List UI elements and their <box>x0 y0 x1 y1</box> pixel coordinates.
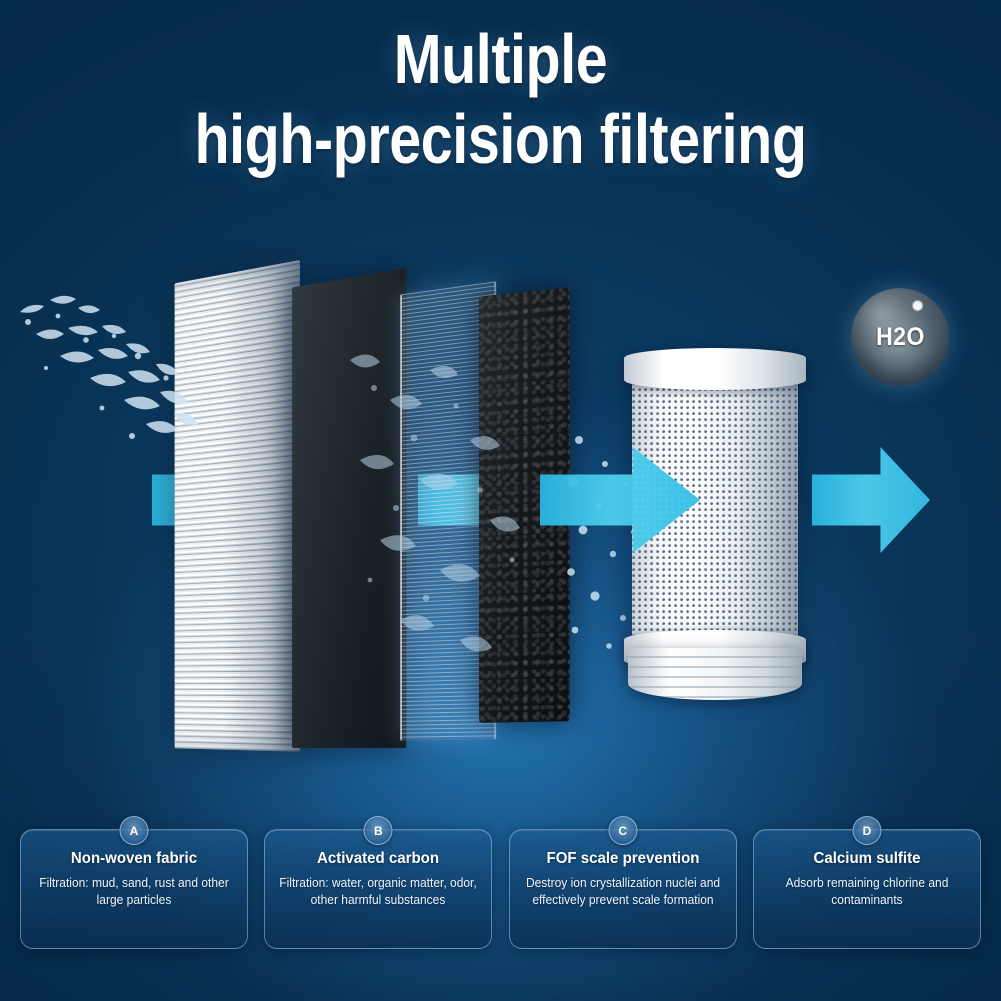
legend-title-d: Calcium sulfite <box>769 850 965 868</box>
charcoal-board <box>292 268 406 748</box>
legend-desc-a: Filtration: mud, sand, rust and other la… <box>34 875 234 908</box>
cartridge-threaded-base <box>628 648 802 700</box>
infographic-stage: Multiple high-precision filtering <box>0 0 1001 1001</box>
legend-title-c: FOF scale prevention <box>525 850 721 868</box>
legend-desc-b: Filtration: water, organic matter, odor,… <box>278 875 478 908</box>
page-title-line-2: high-precision filtering <box>90 104 911 174</box>
legend-cards: A Non-woven fabric Filtration: mud, sand… <box>0 829 1001 949</box>
page-title: Multiple high-precision filtering <box>0 24 1001 174</box>
legend-title-b: Activated carbon <box>281 850 477 868</box>
legend-badge-a: A <box>120 816 149 845</box>
legend-card-c[interactable]: C FOF scale prevention Destroy ion cryst… <box>509 829 737 949</box>
legend-desc-c: Destroy ion crystallization nuclei and e… <box>523 875 723 908</box>
non-woven-fabric-sheet <box>175 260 300 752</box>
h2o-bubble-icon: H2O <box>851 288 949 386</box>
legend-badge-b: B <box>364 816 393 845</box>
legend-card-b[interactable]: B Activated carbon Filtration: water, or… <box>264 829 492 949</box>
legend-card-a[interactable]: A Non-woven fabric Filtration: mud, sand… <box>20 829 248 949</box>
legend-badge-d: D <box>852 816 881 845</box>
non-woven-fabric-shading <box>175 260 300 752</box>
legend-title-a: Non-woven fabric <box>36 850 232 868</box>
cartridge-top-cap <box>624 348 806 390</box>
legend-card-d[interactable]: D Calcium sulfite Adsorb remaining chlor… <box>753 829 981 949</box>
page-title-line-1: Multiple <box>90 24 911 94</box>
legend-badge-c: C <box>608 816 637 845</box>
h2o-label: H2O <box>876 323 925 352</box>
flow-arrow-4-icon <box>812 447 930 553</box>
legend-desc-d: Adsorb remaining chlorine and contaminan… <box>767 875 967 908</box>
